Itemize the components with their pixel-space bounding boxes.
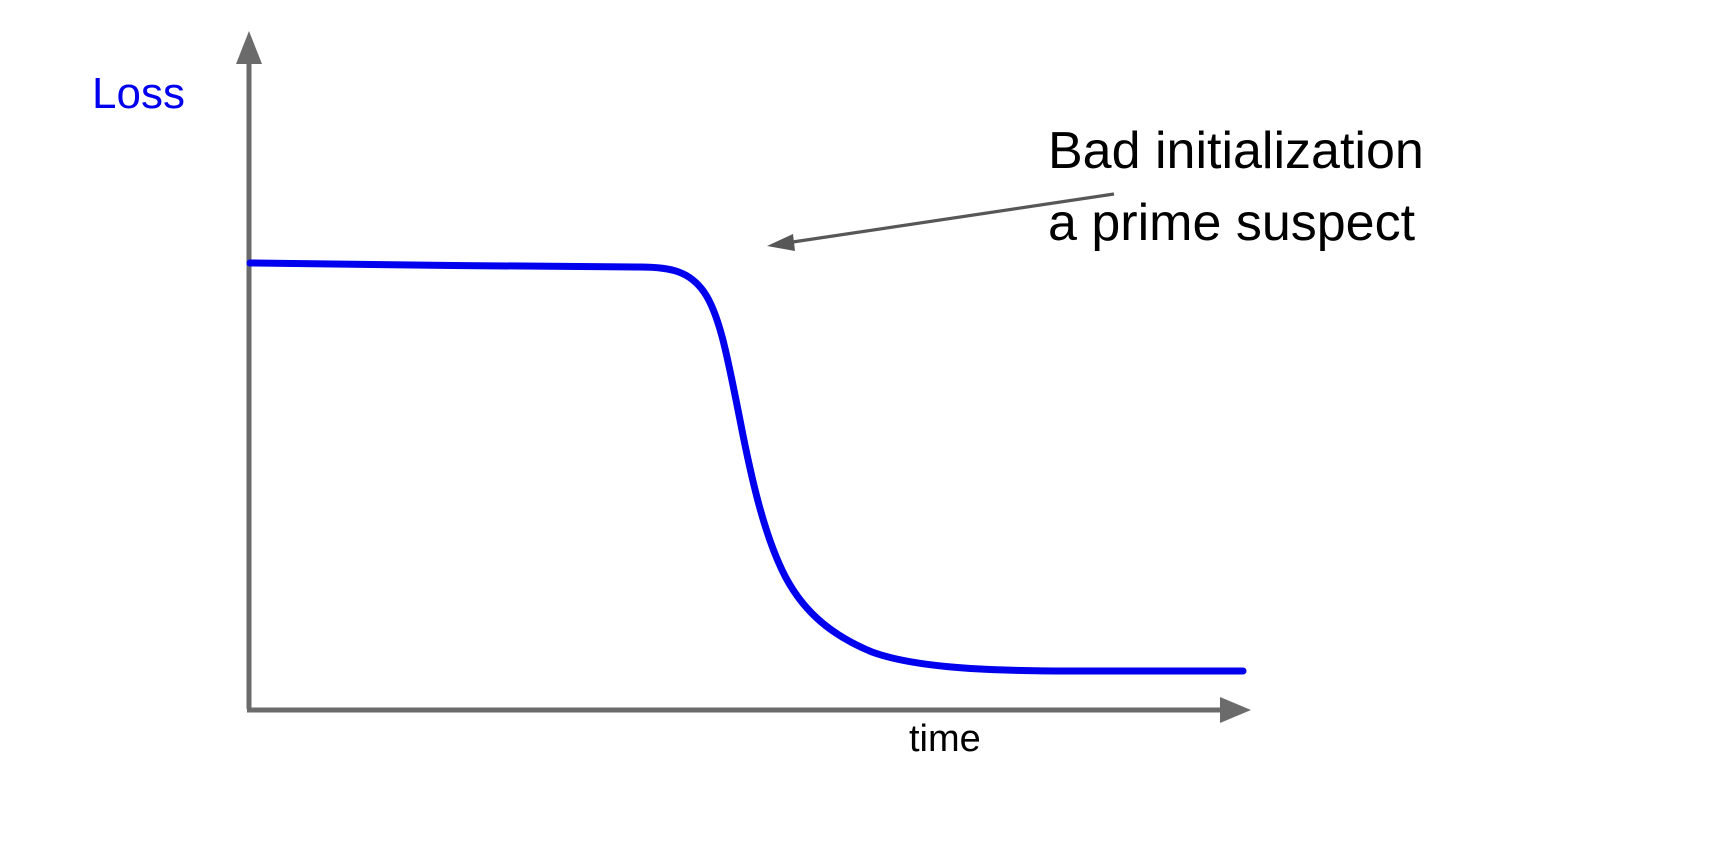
x-axis-label: time (909, 718, 981, 760)
loss-curve-path (250, 263, 1243, 671)
loss-curve (250, 263, 1243, 671)
figure-canvas: Loss time Bad initialization a prime sus… (0, 0, 1732, 868)
arrow-right-icon (1220, 697, 1251, 723)
y-axis-label: Loss (92, 69, 185, 118)
y-axis (236, 31, 262, 709)
arrow-up-icon (236, 31, 262, 64)
annotation-line-1: Bad initialization (1048, 122, 1424, 180)
loss-curve-diagram: Loss time Bad initialization a prime sus… (0, 0, 1732, 868)
annotation-line-2: a prime suspect (1048, 194, 1416, 252)
arrow-left-icon (767, 234, 795, 251)
x-axis (247, 697, 1251, 723)
